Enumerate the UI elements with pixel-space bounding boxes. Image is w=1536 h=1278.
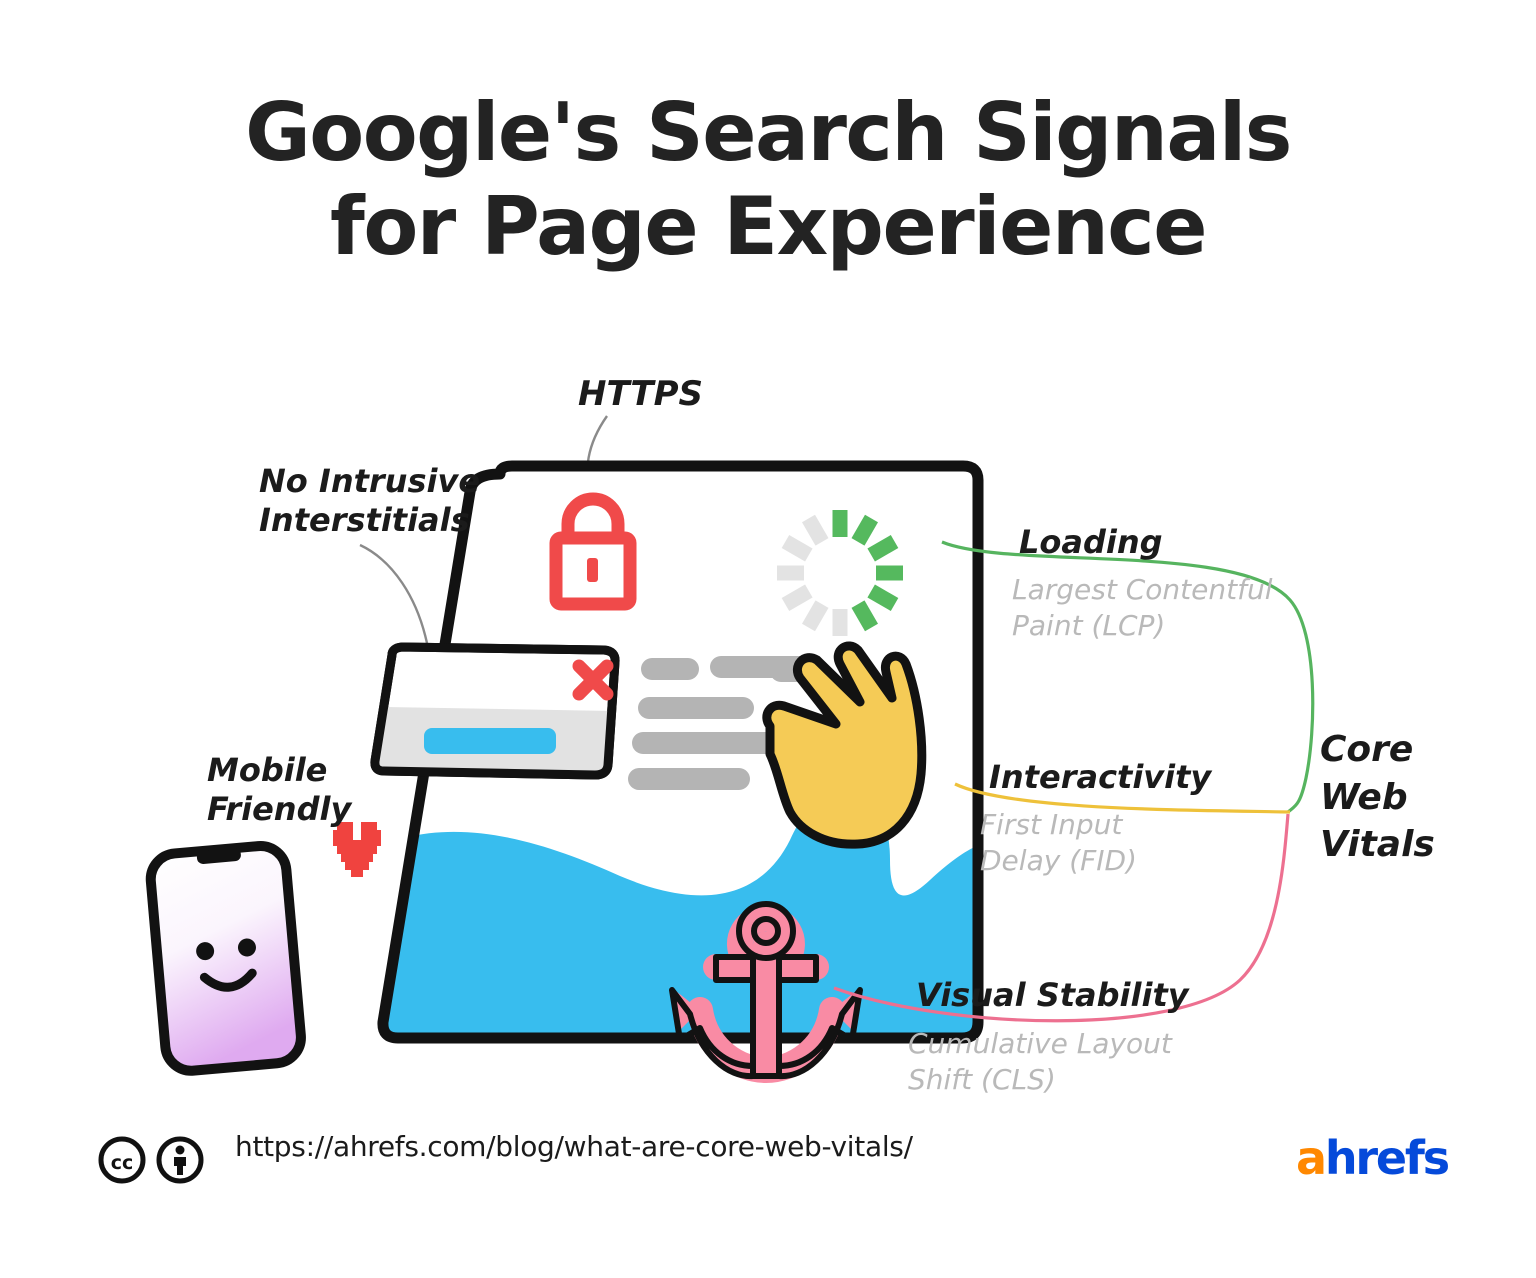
ahrefs-logo-a: a: [1296, 1131, 1325, 1185]
label-https: HTTPS: [578, 374, 703, 415]
label-loading: Loading: [1019, 523, 1163, 562]
anchor-icon: [672, 904, 860, 1076]
label-loading-metric: Largest Contentful Paint (LCP): [1012, 572, 1272, 645]
connector-https: [587, 416, 607, 506]
smartphone-smiley-icon: [149, 844, 303, 1073]
ahrefs-logo[interactable]: ahrefs: [1296, 1131, 1448, 1185]
content-text-bars: [628, 656, 828, 790]
label-visual-stability: Visual Stability: [916, 976, 1189, 1015]
label-interactivity-metric: First Input Delay (FID): [980, 807, 1137, 880]
label-core-web-vitals: Core Web Vitals: [1320, 726, 1435, 869]
source-url[interactable]: https://ahrefs.com/blog/what-are-core-we…: [235, 1130, 913, 1163]
label-visual-stability-metric: Cumulative Layout Shift (CLS): [908, 1026, 1172, 1099]
label-interactivity: Interactivity: [989, 758, 1211, 797]
footer: https://ahrefs.com/blog/what-are-core-we…: [104, 1130, 913, 1163]
label-no-intrusive-interstitials: No Intrusive Interstitials: [259, 462, 480, 540]
tablet-page-fill: [383, 466, 978, 1038]
padlock-icon: [556, 499, 630, 604]
pixel-heart-icon: [333, 822, 381, 877]
loading-spinner-icon: [777, 510, 903, 636]
infographic-canvas: Google's Search Signals for Page Experie…: [0, 0, 1536, 1278]
red-x-close-icon: [579, 666, 607, 694]
intrusive-interstitial-dialog[interactable]: [375, 647, 615, 775]
pointing-hand-icon: [767, 646, 922, 844]
tablet-outline: [383, 466, 978, 1038]
interstitial-cta-button: [424, 728, 556, 754]
connector-interstitials: [360, 545, 428, 648]
page-title: Google's Search Signals for Page Experie…: [0, 86, 1536, 275]
blue-wave-shape: [370, 788, 1000, 1060]
ahrefs-logo-rest: hrefs: [1325, 1131, 1448, 1185]
label-mobile-friendly: Mobile Friendly: [207, 751, 351, 829]
